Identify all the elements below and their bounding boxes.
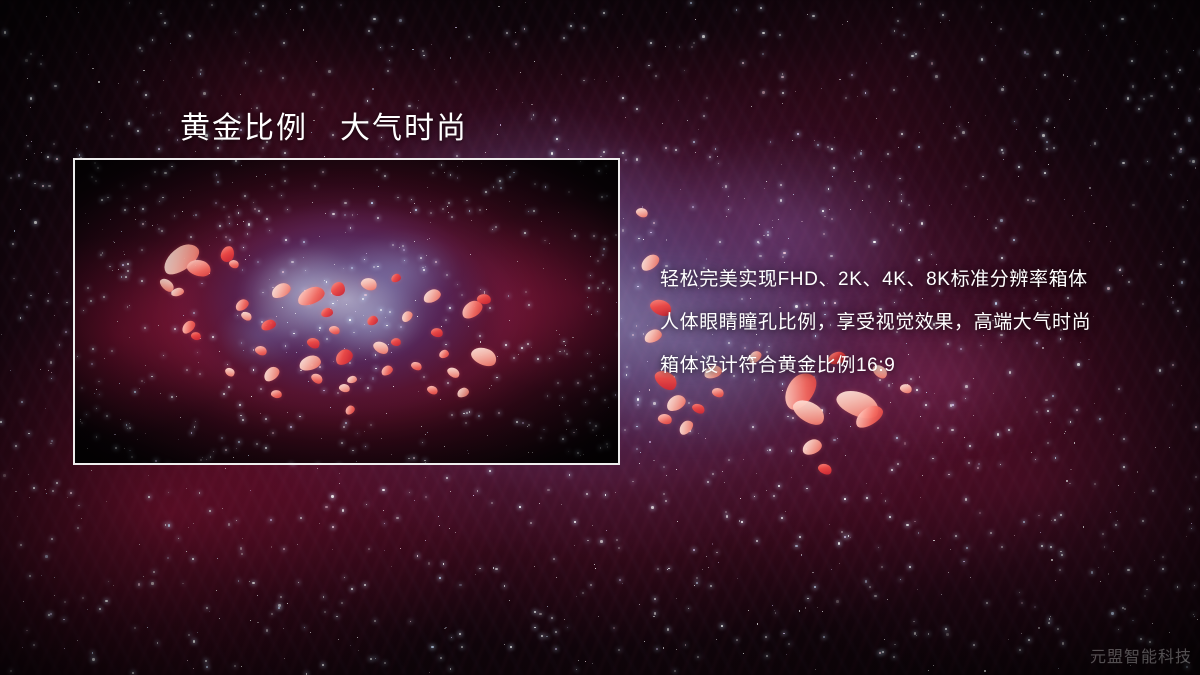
presentation-slide: 黄金比例 大气时尚 轻松完美实现FHD、2K、4K、8K标准分辨率箱体 人体眼睛…	[0, 0, 1200, 675]
body-copy-block: 轻松完美实现FHD、2K、4K、8K标准分辨率箱体 人体眼睛瞳孔比例，享受视觉效…	[660, 258, 1180, 387]
body-line-3: 箱体设计符合黄金比例16:9	[660, 344, 1180, 387]
body-line-1: 轻松完美实现FHD、2K、4K、8K标准分辨率箱体	[660, 258, 1180, 301]
page-title: 黄金比例 大气时尚	[180, 103, 468, 147]
body-line-2: 人体眼睛瞳孔比例，享受视觉效果，高端大气时尚	[660, 301, 1180, 344]
framed-nebula-preview[interactable]	[73, 158, 620, 465]
preview-vignette	[75, 160, 618, 463]
watermark-label: 元盟智能科技	[1090, 643, 1192, 667]
